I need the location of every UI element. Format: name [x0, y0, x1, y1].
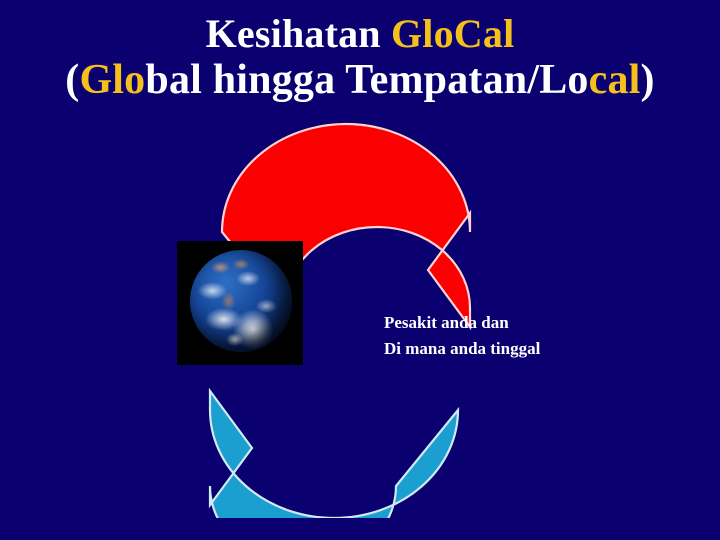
slide-title: Kesihatan GloCal (Global hingga Tempatan… — [0, 14, 720, 102]
title-line-2: (Global hingga Tempatan/Local) — [0, 59, 720, 102]
earth-globe-graphic — [190, 250, 292, 352]
body-text-block: Pesakit anda dan Di mana anda tinggal — [384, 310, 540, 363]
title-paren-open: ( — [65, 57, 79, 103]
earth-photo — [177, 241, 303, 365]
title-word-kesihatan: Kesihatan — [206, 11, 391, 56]
title-segment-bal-hingga-tempatan-lo: bal hingga Tempatan/Lo — [145, 57, 588, 103]
title-word-glocal: GloCal — [391, 11, 514, 56]
body-text-line-2: Di mana anda tinggal — [384, 336, 540, 362]
title-paren-close: ) — [641, 57, 655, 103]
title-segment-glo: Glo — [79, 57, 145, 103]
blue-up-arrow-icon — [210, 391, 458, 518]
title-segment-cal: cal — [589, 57, 641, 103]
body-text-line-1: Pesakit anda dan — [384, 310, 540, 336]
slide-canvas: Kesihatan GloCal (Global hingga Tempatan… — [0, 0, 720, 540]
title-line-1: Kesihatan GloCal — [0, 14, 720, 55]
